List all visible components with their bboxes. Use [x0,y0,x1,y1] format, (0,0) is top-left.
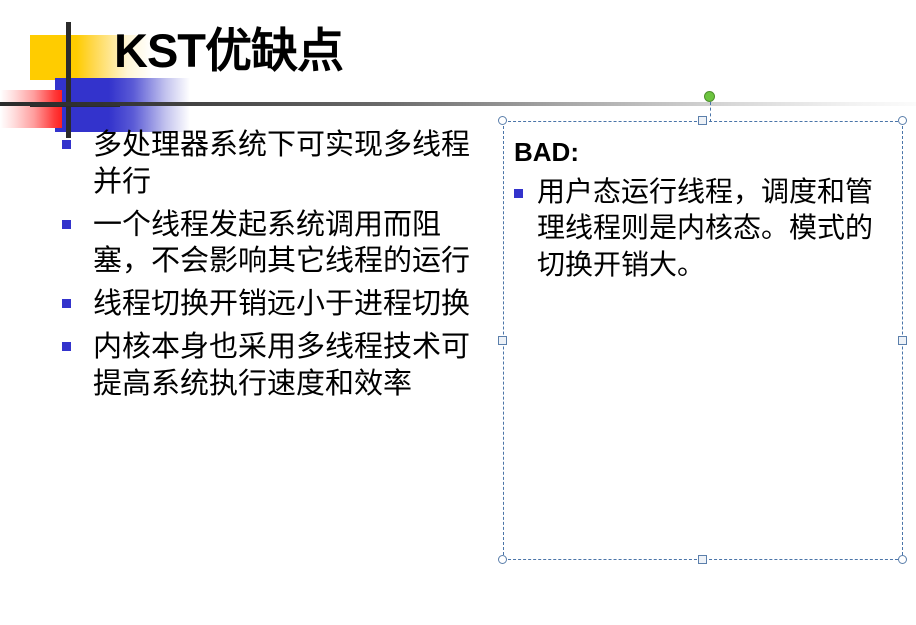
resize-handle-top-center[interactable] [698,116,707,125]
resize-handle-middle-right[interactable] [898,336,907,345]
resize-handle-middle-left[interactable] [498,336,507,345]
slide-title: KST优缺点 [114,26,343,75]
resize-handle-top-right[interactable] [898,116,907,125]
bullet-square-icon [62,299,71,308]
list-item-label: 一个线程发起系统调用而阻塞，不会影响其它线程的运行 [93,206,472,280]
list-item: 内核本身也采用多线程技术可提高系统执行速度和效率 [62,328,472,402]
resize-handle-bottom-left[interactable] [498,555,507,564]
list-item: 多处理器系统下可实现多线程并行 [62,126,472,200]
bullet-square-icon [62,140,71,149]
bullet-square-icon [514,189,523,198]
slide-canvas: KST优缺点 多处理器系统下可实现多线程并行 一个线程发起系统调用而阻塞，不会影… [0,0,916,625]
decoration-vertical-bar [66,22,71,138]
resize-handle-bottom-right[interactable] [898,555,907,564]
title-separator-rule [0,102,916,106]
bullet-square-icon [62,342,71,351]
list-item: 一个线程发起系统调用而阻塞，不会影响其它线程的运行 [62,206,472,280]
right-panel-heading: BAD: [514,137,894,168]
list-item: 线程切换开销远小于进程切换 [62,285,472,322]
bullet-square-icon [62,220,71,229]
resize-handle-bottom-center[interactable] [698,555,707,564]
list-item-label: 用户态运行线程，调度和管理线程则是内核态。模式的切换开销大。 [537,174,894,283]
decoration-red-block [0,90,62,128]
list-item-label: 线程切换开销远小于进程切换 [93,285,472,322]
list-item-label: 多处理器系统下可实现多线程并行 [93,126,472,200]
right-content-list: BAD: 用户态运行线程，调度和管理线程则是内核态。模式的切换开销大。 [504,122,902,283]
rotation-handle-stem [710,102,711,122]
left-content-list: 多处理器系统下可实现多线程并行 一个线程发起系统调用而阻塞，不会影响其它线程的运… [62,126,472,408]
rotate-handle[interactable] [704,91,715,102]
list-item-label: 内核本身也采用多线程技术可提高系统执行速度和效率 [93,328,472,402]
resize-handle-top-left[interactable] [498,116,507,125]
selected-text-box[interactable]: BAD: 用户态运行线程，调度和管理线程则是内核态。模式的切换开销大。 [503,121,903,560]
list-item: 用户态运行线程，调度和管理线程则是内核态。模式的切换开销大。 [514,174,894,283]
